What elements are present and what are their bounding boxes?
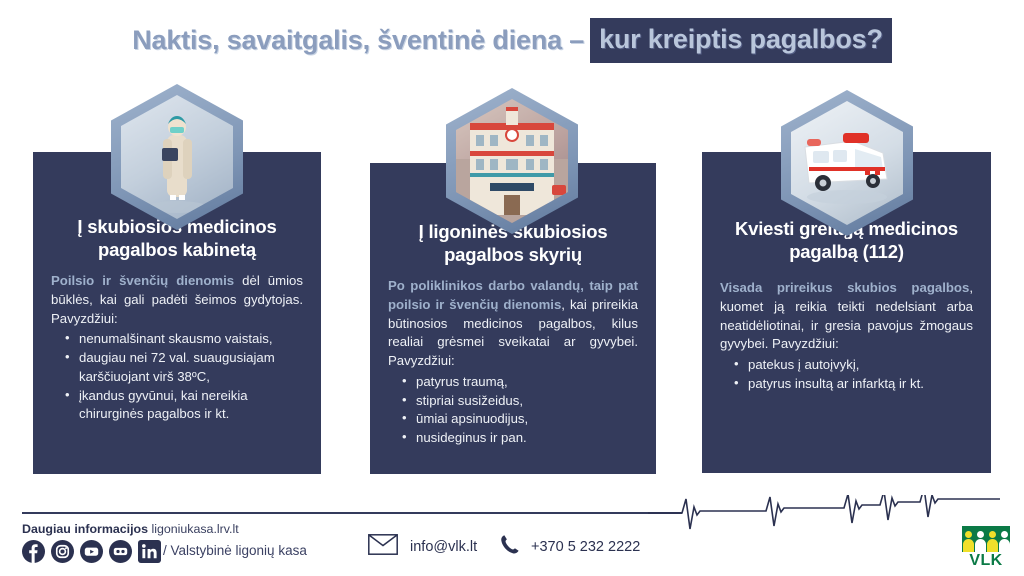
page-title-plain: Naktis, savaitgalis, šventinė diena – [132,25,590,56]
vlk-logo-text: VLK [962,553,1010,569]
contact-email[interactable]: info@vlk.lt [368,534,477,560]
phone-text: +370 5 232 2222 [531,539,640,555]
card-bullet-list: patekus į autoįvykį, patyrus insultą ar … [720,356,973,393]
envelope-icon [368,534,398,560]
phone-icon [500,534,520,560]
social-handle: / Valstybinė ligonių kasa [163,543,307,558]
list-item: stipriai susižeidus, [402,392,638,411]
card-lead: Poilsio ir švenčių dienomis [51,273,234,288]
page-title-highlight: kur kreiptis pagalbos? [590,18,892,63]
list-item: nusideginus ir pan. [402,429,638,448]
infographic-page: Naktis, savaitgalis, šventinė diena – ku… [0,0,1024,576]
email-text: info@vlk.lt [410,539,477,555]
list-item: įkandus gyvūnui, kai nereikia chirurginė… [65,387,303,424]
ambulance-photo [791,101,903,225]
more-info-url[interactable]: ligoniukasa.lrv.lt [151,522,238,536]
list-item: patyrus insultą ar infarktą ir kt. [734,375,973,394]
youtube-icon[interactable] [80,540,103,563]
list-item: daugiau nei 72 val. suaugusiajam karščiu… [65,349,303,386]
social-links [22,540,161,563]
card-lead: Visada prireikus skubios pagalbos [720,280,969,295]
page-title: Naktis, savaitgalis, šventinė diena – ku… [0,18,1024,63]
contact-phone[interactable]: +370 5 232 2222 [500,534,640,560]
list-item: patekus į autoįvykį, [734,356,973,375]
card-bullet-list: patyrus traumą, stipriai susižeidus, ūmi… [388,373,638,448]
linkedin-icon[interactable] [138,540,161,563]
vlk-logo-mark [962,526,1010,552]
ecg-line-icon [648,495,1000,540]
card-body: Visada prireikus skubios pagalbos, kuome… [720,279,973,393]
more-info-line: Daugiau informacijos ligoniukasa.lrv.lt [22,522,239,536]
vlk-logo: VLK [962,526,1010,568]
footer-divider [22,512,682,514]
card-body: Poilsio ir švenčių dienomis dėl ūmios bū… [51,272,303,424]
hospital-photo [456,99,568,223]
facebook-icon[interactable] [22,540,45,563]
card-bullet-list: nenumalšinant skausmo vaistais, daugiau … [51,330,303,424]
doctor-photo [121,95,233,219]
list-item: ūmiai apsinuodijus, [402,410,638,429]
card-body: Po poliklinikos darbo valandų, taip pat … [388,277,638,448]
instagram-icon[interactable] [51,540,74,563]
list-item: nenumalšinant skausmo vaistais, [65,330,303,349]
list-item: patyrus traumą, [402,373,638,392]
more-info-label: Daugiau informacijos [22,522,148,536]
flickr-icon[interactable] [109,540,132,563]
